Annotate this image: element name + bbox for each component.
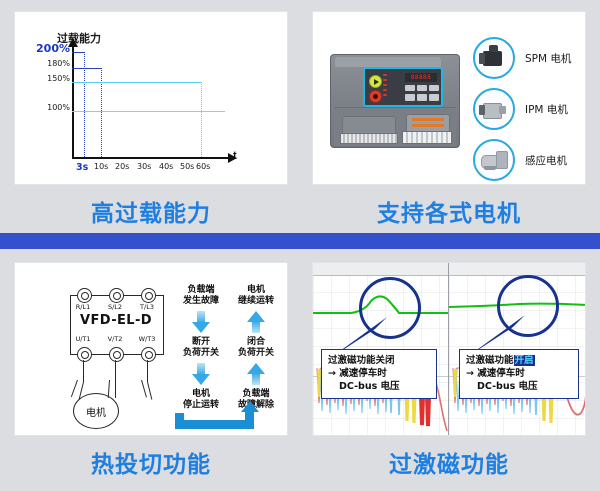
terminal-label-v-t2: V/T2	[102, 335, 128, 343]
keypad-display: 88888	[405, 73, 437, 82]
run-button-icon	[369, 75, 382, 88]
x-tick-20s: 20s	[115, 162, 129, 171]
caption-overload: 高过载能力	[14, 194, 288, 228]
switch-u	[71, 380, 78, 397]
motor-label-ipm: IPM 电机	[525, 102, 568, 117]
caption-over-excitation: 过激磁功能	[312, 445, 586, 479]
flow-left-3-line1: 电机	[192, 389, 210, 399]
terminal-t-l3	[141, 288, 156, 303]
flow-loop-arrow	[175, 413, 263, 429]
drive-top-cover	[335, 57, 441, 67]
terminal-r-l1	[77, 288, 92, 303]
x-tick-50s: 50s	[180, 162, 194, 171]
arrow-up-2	[247, 363, 265, 385]
callout-off-line2: → 减速停车时	[328, 367, 431, 380]
caption-motors: 支持各式电机	[312, 194, 586, 228]
motor-label-induction: 感应电机	[525, 153, 567, 168]
arrow-down-2	[192, 363, 210, 385]
flow-left-2-line2: 负荷开关	[183, 348, 219, 358]
lead-w	[147, 382, 153, 400]
flow-left-2-line1: 断开	[192, 337, 210, 347]
wire-v	[115, 360, 116, 382]
vfd-drive-image: 88888	[330, 54, 460, 148]
x-tick-10s: 10s	[94, 162, 108, 171]
y-tick-100: 100%	[47, 103, 70, 112]
motor-symbol: 电机	[73, 393, 119, 429]
callout-off-line1: 过激磁功能关闭	[328, 354, 431, 367]
drive-terminal-block-left	[340, 133, 398, 144]
terminal-label-s-l2: S/L2	[102, 303, 128, 311]
lead-v	[115, 382, 116, 398]
callout-on-line3: DC-bus 电压	[466, 380, 573, 393]
series-150-line	[72, 82, 201, 83]
x-tick-60s: 60s	[196, 162, 210, 171]
callout-on-prefix: 过激磁功能	[466, 355, 514, 366]
chart-y-axis	[72, 46, 74, 159]
caption-hot-swap: 热投切功能	[14, 445, 288, 479]
callout-off-line3: DC-bus 电压	[328, 380, 431, 393]
callout-on: 过激磁功能开启 → 减速停车时 DC-bus 电压	[459, 349, 579, 399]
flow-left-step-1: 负载端 发生故障	[171, 285, 231, 307]
flow-right-step-2: 闭合 负荷开关	[226, 337, 286, 359]
callout-off: 过激磁功能关闭 → 减速停车时 DC-bus 电压	[321, 349, 437, 399]
flow-left-step-3: 电机 停止运转	[171, 389, 231, 411]
motor-option-ipm[interactable]: IPM 电机	[473, 88, 568, 130]
x-tick-3s: 3s	[76, 162, 88, 173]
flow-left-step-2: 断开 负荷开关	[171, 337, 231, 359]
callout-on-state: 开启	[514, 355, 535, 366]
terminal-u-t1	[77, 347, 92, 362]
scope-capture-on: 过激磁功能开启 → 减速停车时 DC-bus 电压	[449, 263, 586, 436]
flow-right-3-line1: 负载端	[242, 389, 269, 399]
flow-left-1-line2: 发生故障	[183, 296, 219, 306]
series-180-line	[72, 68, 101, 69]
terminal-label-u-t1: U/T1	[70, 335, 96, 343]
terminal-v-t2	[109, 347, 124, 362]
drive-lower-housing	[334, 107, 456, 146]
keypad-button-row-1	[405, 85, 439, 91]
series-200-line	[72, 52, 84, 53]
flow-left-3-line2: 停止运转	[183, 400, 219, 410]
stop-button-icon	[369, 90, 382, 103]
ipm-motor-icon	[473, 88, 515, 130]
scope-capture-off: 过激磁功能关闭 → 减速停车时 DC-bus 电压	[313, 263, 449, 436]
y-tick-200: 200%	[36, 42, 70, 55]
terminal-label-t-l3: T/L3	[134, 303, 160, 311]
motor-option-induction[interactable]: 感应电机	[473, 139, 567, 181]
series-100-line	[72, 111, 225, 112]
x-tick-30s: 30s	[137, 162, 151, 171]
keypad-button-row-2	[405, 94, 439, 101]
flow-right-1-line1: 电机	[247, 285, 265, 295]
flow-right-1-line2: 继续运转	[238, 296, 274, 306]
page-root: 过载能力 t 200% 180% 150% 100% 3s 10s 20	[0, 0, 600, 491]
panel-motor-support: 88888 SPM 电机 IPM 电机	[312, 11, 586, 185]
terminal-w-t3	[141, 347, 156, 362]
arrow-down-1	[192, 311, 210, 333]
series-150-drop	[201, 82, 202, 157]
x-tick-40s: 40s	[159, 162, 173, 171]
drive-model-label: VFD-EL-D	[70, 313, 162, 328]
motor-option-spm[interactable]: SPM 电机	[473, 37, 571, 79]
terminal-label-w-t3: W/T3	[134, 335, 160, 343]
panel-overload-capacity: 过载能力 t 200% 180% 150% 100% 3s 10s 20	[14, 11, 288, 185]
wire-w	[147, 360, 148, 382]
status-led-strip	[383, 74, 389, 102]
terminal-s-l2	[109, 288, 124, 303]
y-tick-180: 180%	[47, 59, 70, 68]
drive-terminal-block-right	[402, 131, 452, 144]
motor-label-spm: SPM 电机	[525, 51, 571, 66]
callout-on-line2: → 减速停车时	[466, 367, 573, 380]
flow-left-1-line1: 负载端	[187, 285, 214, 295]
chart-x-axis-label: t	[233, 150, 237, 162]
callout-on-line1: 过激磁功能开启	[466, 354, 573, 367]
flow-right-2-line1: 闭合	[247, 337, 265, 347]
panel-over-excitation: 过激磁功能关闭 → 减速停车时 DC-bus 电压	[312, 262, 586, 436]
induction-motor-icon	[473, 139, 515, 181]
terminal-label-r-l1: R/L1	[70, 303, 96, 311]
flow-right-step-1: 电机 继续运转	[226, 285, 286, 307]
wire-u	[83, 360, 84, 382]
overload-chart: 过载能力 t 200% 180% 150% 100% 3s 10s 20	[15, 12, 287, 184]
chart-x-axis	[72, 157, 228, 159]
series-200-drop	[84, 52, 85, 157]
panel-hot-swap: VFD-EL-D R/L1 S/L2 T/L3 U/T1 V/T2 W/T3 电…	[14, 262, 288, 436]
arrow-up-1	[247, 311, 265, 333]
y-tick-150: 150%	[47, 74, 70, 83]
flow-right-2-line2: 负荷开关	[238, 348, 274, 358]
section-divider	[0, 233, 600, 249]
drive-keypad: 88888	[363, 67, 443, 107]
spm-motor-icon	[473, 37, 515, 79]
